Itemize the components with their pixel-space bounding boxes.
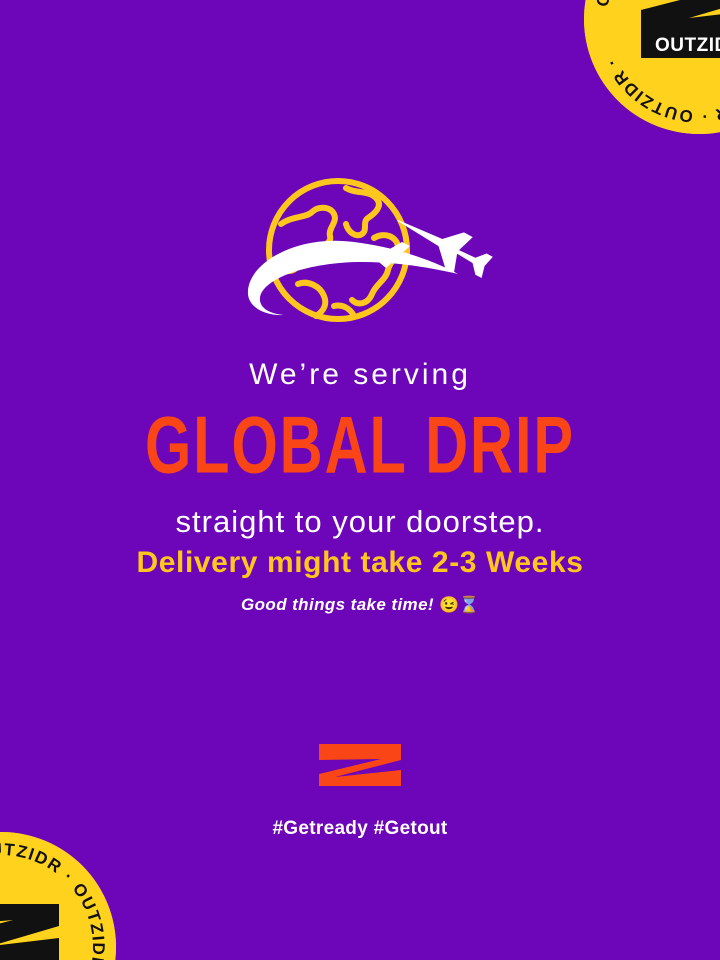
wink-hourglass-emoji: 😉⌛ (439, 597, 479, 614)
outzidr-z-logo (319, 744, 401, 802)
globe-airplane-illustration (226, 172, 494, 340)
outzidr-badge-top-right: OUTZIDR · OUTZIDR · OUTZIDR · OUTZIDR · … (584, 0, 720, 134)
headline-block: We’re serving GLOBAL DRIP straight to yo… (0, 360, 720, 537)
eyebrow-text: We’re serving (0, 360, 720, 390)
delivery-tagline-text: Good things take time! (241, 595, 434, 614)
footer-block: #Getready #Getout (0, 744, 720, 838)
outzidr-badge-bottom-left: OUTZIDR · OUTZIDR · OUTZIDR · OUTZIDR · … (0, 832, 116, 960)
svg-text:OUTZIDR: OUTZIDR (655, 35, 720, 56)
promo-poster: OUTZIDR · OUTZIDR · OUTZIDR · OUTZIDR · … (0, 0, 720, 960)
subline-text: straight to your doorstep. (0, 506, 720, 537)
delivery-tagline: Good things take time! 😉⌛ (0, 596, 720, 614)
hashtags-text: #Getready #Getout (0, 819, 720, 838)
delivery-notice: Delivery might take 2-3 Weeks Good thing… (0, 548, 720, 614)
delivery-estimate: Delivery might take 2-3 Weeks (0, 548, 720, 578)
page-title: GLOBAL DRIP (14, 406, 705, 487)
